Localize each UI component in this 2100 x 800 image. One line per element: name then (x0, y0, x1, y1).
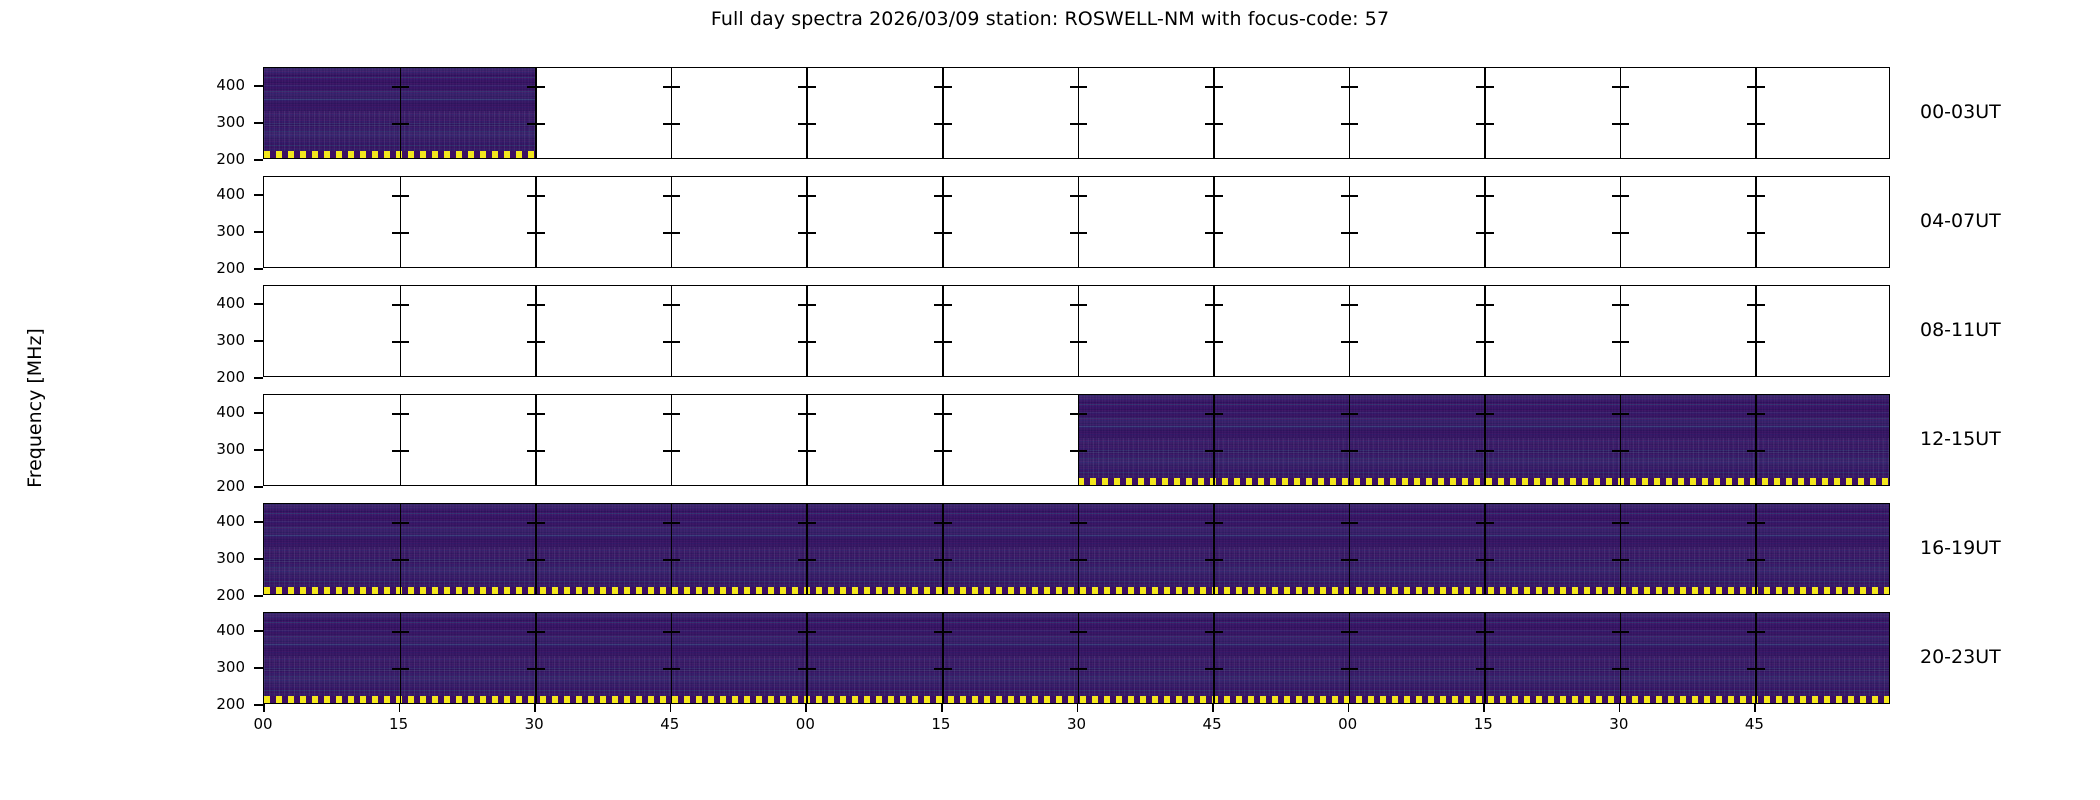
inner-tick (537, 195, 545, 197)
inner-tick (944, 123, 952, 125)
inner-tick (537, 232, 545, 234)
inner-tick (798, 450, 806, 452)
inner-tick (808, 86, 816, 88)
inner-tick (1621, 86, 1629, 88)
inner-tick (537, 304, 545, 306)
x-tick-label: 45 (1192, 715, 1232, 733)
inner-tick (1486, 522, 1494, 524)
inner-tick (1747, 86, 1755, 88)
inner-tick (1612, 413, 1620, 415)
inner-tick (392, 341, 400, 343)
inner-tick (401, 232, 409, 234)
inner-tick (1070, 86, 1078, 88)
inner-tick (934, 559, 942, 561)
inner-tick (1747, 413, 1755, 415)
inner-tick (527, 631, 535, 633)
page-title: Full day spectra 2026/03/09 station: ROS… (0, 8, 2100, 30)
inner-tick (1079, 341, 1087, 343)
inner-tick (798, 195, 806, 197)
x-tick-mark (1754, 704, 1756, 712)
inner-tick (1341, 86, 1349, 88)
inner-tick (808, 522, 816, 524)
inner-tick (672, 86, 680, 88)
block-separator (671, 68, 673, 158)
inner-tick (1350, 232, 1358, 234)
inner-tick (401, 450, 409, 452)
inner-tick (672, 559, 680, 561)
inner-tick (944, 450, 952, 452)
inner-tick (537, 123, 545, 125)
inner-tick (527, 86, 535, 88)
y-tick-label: 400 (185, 294, 245, 312)
inner-tick (944, 304, 952, 306)
inner-tick (672, 195, 680, 197)
inner-tick (1070, 413, 1078, 415)
inner-tick (944, 413, 952, 415)
block-separator (535, 504, 537, 594)
inner-tick (1747, 450, 1755, 452)
inner-tick (392, 559, 400, 561)
inner-tick (808, 450, 816, 452)
block-separator (942, 286, 944, 376)
x-tick-label: 00 (1328, 715, 1368, 733)
inner-tick (1476, 341, 1484, 343)
x-tick-mark (670, 704, 672, 712)
inner-tick (1341, 522, 1349, 524)
y-tick-label: 400 (185, 403, 245, 421)
inner-tick (1070, 232, 1078, 234)
inner-tick (1612, 123, 1620, 125)
inner-tick (672, 123, 680, 125)
inner-tick (1215, 450, 1223, 452)
x-tick-label: 15 (921, 715, 961, 733)
inner-tick (798, 559, 806, 561)
y-tick-mark (254, 303, 263, 305)
inner-tick (1341, 341, 1349, 343)
block-separator (1078, 613, 1080, 703)
block-separator (1755, 286, 1757, 376)
inner-tick (1070, 559, 1078, 561)
block-separator (942, 177, 944, 267)
block-separator (535, 395, 537, 485)
inner-tick (1757, 413, 1765, 415)
inner-tick (934, 123, 942, 125)
inner-tick (1757, 304, 1765, 306)
y-axis-label-text: Frequency [MHz] (24, 278, 46, 538)
inner-tick (1612, 341, 1620, 343)
inner-tick (537, 341, 545, 343)
block-separator (1349, 286, 1351, 376)
block-separator (1213, 177, 1215, 267)
inner-tick (1341, 559, 1349, 561)
inner-tick (1476, 631, 1484, 633)
block-separator (1484, 177, 1486, 267)
y-tick-label: 300 (185, 113, 245, 131)
block-separator (400, 504, 402, 594)
inner-tick (1350, 413, 1358, 415)
inner-tick (808, 123, 816, 125)
y-axis-label: Frequency [MHz] (0, 0, 30, 800)
block-separator (806, 395, 808, 485)
inner-tick (527, 450, 535, 452)
inner-tick (1757, 668, 1765, 670)
inner-tick (934, 668, 942, 670)
y-tick-label: 300 (185, 549, 245, 567)
inner-tick (401, 668, 409, 670)
inner-tick (1621, 123, 1629, 125)
inner-tick (1205, 413, 1213, 415)
inner-tick (663, 123, 671, 125)
inner-tick (1476, 450, 1484, 452)
inner-tick (1621, 304, 1629, 306)
inner-tick (1350, 522, 1358, 524)
inner-tick (1070, 522, 1078, 524)
block-separator (1620, 286, 1622, 376)
inner-tick (1612, 522, 1620, 524)
inner-tick (672, 304, 680, 306)
block-separator (1620, 395, 1622, 485)
block-separator (1755, 504, 1757, 594)
inner-tick (808, 559, 816, 561)
inner-tick (944, 559, 952, 561)
block-separator (1484, 68, 1486, 158)
inner-tick (527, 522, 535, 524)
y-tick-label: 300 (185, 658, 245, 676)
inner-tick (527, 413, 535, 415)
inner-tick (1612, 450, 1620, 452)
y-tick-mark (254, 486, 263, 488)
inner-tick (798, 341, 806, 343)
inner-tick (392, 413, 400, 415)
inner-tick (1476, 522, 1484, 524)
inner-tick (1621, 522, 1629, 524)
inner-tick (401, 413, 409, 415)
inner-tick (1757, 123, 1765, 125)
block-separator (535, 177, 537, 267)
inner-tick (1205, 668, 1213, 670)
inner-tick (1215, 413, 1223, 415)
inner-tick (944, 232, 952, 234)
x-tick-mark (263, 704, 265, 712)
inner-tick (1486, 631, 1494, 633)
inner-tick (663, 668, 671, 670)
inner-tick (401, 195, 409, 197)
inner-tick (672, 668, 680, 670)
inner-tick (1612, 86, 1620, 88)
block-separator (1620, 177, 1622, 267)
x-tick-label: 15 (1463, 715, 1503, 733)
inner-tick (401, 522, 409, 524)
inner-tick (401, 341, 409, 343)
block-separator (1484, 286, 1486, 376)
block-separator (806, 504, 808, 594)
inner-tick (934, 304, 942, 306)
inner-tick (1070, 668, 1078, 670)
x-tick-mark (534, 704, 536, 712)
row-time-label: 16-19UT (1920, 537, 2001, 559)
inner-tick (1621, 341, 1629, 343)
inner-tick (1215, 195, 1223, 197)
inner-tick (934, 522, 942, 524)
inner-tick (1205, 195, 1213, 197)
inner-tick (672, 341, 680, 343)
inner-tick (808, 668, 816, 670)
x-tick-mark (1619, 704, 1621, 712)
inner-tick (1350, 559, 1358, 561)
y-tick-label: 300 (185, 222, 245, 240)
inner-tick (1079, 413, 1087, 415)
inner-tick (1350, 450, 1358, 452)
inner-tick (1205, 559, 1213, 561)
inner-tick (1476, 195, 1484, 197)
block-separator (671, 395, 673, 485)
block-separator (806, 177, 808, 267)
inner-tick (1747, 123, 1755, 125)
inner-tick (1476, 304, 1484, 306)
block-separator (1620, 68, 1622, 158)
block-separator (806, 613, 808, 703)
y-tick-label: 200 (185, 695, 245, 713)
x-tick-label: 45 (650, 715, 690, 733)
y-tick-label: 200 (185, 150, 245, 168)
block-separator (1755, 613, 1757, 703)
inner-tick (1341, 450, 1349, 452)
inner-tick (798, 413, 806, 415)
inner-tick (1486, 304, 1494, 306)
inner-tick (1070, 304, 1078, 306)
block-separator (671, 177, 673, 267)
inner-tick (392, 631, 400, 633)
y-tick-label: 200 (185, 586, 245, 604)
block-separator (942, 613, 944, 703)
inner-tick (808, 413, 816, 415)
inner-tick (1079, 668, 1087, 670)
y-tick-label: 300 (185, 440, 245, 458)
inner-tick (663, 304, 671, 306)
inner-tick (1079, 304, 1087, 306)
block-separator (1213, 613, 1215, 703)
block-separator (1213, 395, 1215, 485)
block-separator (535, 286, 537, 376)
inner-tick (392, 123, 400, 125)
inner-tick (1205, 123, 1213, 125)
y-tick-mark (254, 194, 263, 196)
inner-tick (1612, 668, 1620, 670)
inner-tick (1747, 522, 1755, 524)
block-separator (1484, 504, 1486, 594)
inner-tick (1747, 668, 1755, 670)
inner-tick (1079, 195, 1087, 197)
x-tick-mark (941, 704, 943, 712)
inner-tick (1079, 559, 1087, 561)
block-separator (1484, 395, 1486, 485)
inner-tick (808, 631, 816, 633)
inner-tick (1621, 413, 1629, 415)
inner-tick (537, 668, 545, 670)
inner-tick (1079, 522, 1087, 524)
inner-tick (392, 195, 400, 197)
inner-tick (527, 341, 535, 343)
block-separator (1484, 613, 1486, 703)
block-separator (1620, 504, 1622, 594)
spectrogram-row[interactable] (263, 503, 1890, 595)
inner-tick (1070, 123, 1078, 125)
inner-tick (1757, 631, 1765, 633)
inner-tick (1341, 304, 1349, 306)
inner-tick (663, 341, 671, 343)
inner-tick (1341, 195, 1349, 197)
row-time-label: 20-23UT (1920, 646, 2001, 668)
inner-tick (944, 195, 952, 197)
block-separator (1213, 286, 1215, 376)
block-separator (400, 613, 402, 703)
x-tick-label: 00 (243, 715, 283, 733)
inner-tick (1070, 195, 1078, 197)
block-separator (1755, 177, 1757, 267)
inner-tick (1341, 123, 1349, 125)
y-tick-mark (254, 558, 263, 560)
block-separator (1755, 68, 1757, 158)
inner-tick (663, 631, 671, 633)
block-separator (1213, 504, 1215, 594)
inner-tick (1747, 195, 1755, 197)
inner-tick (1215, 559, 1223, 561)
inner-tick (1205, 522, 1213, 524)
inner-tick (934, 195, 942, 197)
figure-canvas: Full day spectra 2026/03/09 station: ROS… (0, 0, 2100, 800)
inner-tick (1621, 668, 1629, 670)
inner-tick (1621, 232, 1629, 234)
inner-tick (1215, 522, 1223, 524)
y-tick-mark (254, 704, 263, 706)
inner-tick (1205, 304, 1213, 306)
inner-tick (401, 304, 409, 306)
y-tick-mark (254, 159, 263, 161)
inner-tick (537, 413, 545, 415)
y-tick-label: 300 (185, 331, 245, 349)
inner-tick (663, 559, 671, 561)
inner-tick (1486, 232, 1494, 234)
block-separator (1755, 395, 1757, 485)
inner-tick (1612, 232, 1620, 234)
inner-tick (798, 123, 806, 125)
inner-tick (944, 341, 952, 343)
inner-tick (808, 341, 816, 343)
inner-tick (944, 668, 952, 670)
spectrogram-row[interactable] (263, 67, 1890, 159)
inner-tick (1621, 559, 1629, 561)
inner-tick (1205, 450, 1213, 452)
block-separator (1349, 395, 1351, 485)
y-tick-label: 400 (185, 621, 245, 639)
inner-tick (663, 450, 671, 452)
x-tick-mark (399, 704, 401, 712)
y-tick-label: 400 (185, 185, 245, 203)
inner-tick (527, 232, 535, 234)
inner-tick (1350, 195, 1358, 197)
inner-tick (798, 304, 806, 306)
y-tick-mark (254, 449, 263, 451)
inner-tick (1079, 631, 1087, 633)
inner-tick (1621, 450, 1629, 452)
x-tick-mark (1348, 704, 1350, 712)
x-tick-label: 30 (1599, 715, 1639, 733)
inner-tick (1486, 559, 1494, 561)
y-tick-mark (254, 595, 263, 597)
y-tick-label: 200 (185, 368, 245, 386)
inner-tick (672, 631, 680, 633)
y-tick-mark (254, 667, 263, 669)
inner-tick (1486, 86, 1494, 88)
x-tick-mark (805, 704, 807, 712)
block-separator (942, 395, 944, 485)
x-tick-label: 15 (379, 715, 419, 733)
x-tick-label: 30 (1057, 715, 1097, 733)
inner-tick (1205, 86, 1213, 88)
inner-tick (1476, 668, 1484, 670)
inner-tick (1079, 86, 1087, 88)
inner-tick (944, 631, 952, 633)
inner-tick (1070, 341, 1078, 343)
block-separator (1349, 177, 1351, 267)
inner-tick (537, 631, 545, 633)
inner-tick (1079, 232, 1087, 234)
inner-tick (1350, 668, 1358, 670)
row-time-label: 08-11UT (1920, 319, 2001, 341)
inner-tick (1350, 123, 1358, 125)
inner-tick (1747, 559, 1755, 561)
block-separator (1349, 613, 1351, 703)
spectrogram-row[interactable] (263, 285, 1890, 377)
inner-tick (527, 668, 535, 670)
spectrogram-row[interactable] (263, 612, 1890, 704)
inner-tick (1205, 631, 1213, 633)
spectrogram-row[interactable] (263, 176, 1890, 268)
inner-tick (672, 413, 680, 415)
inner-tick (1486, 668, 1494, 670)
row-time-label: 00-03UT (1920, 101, 2001, 123)
inner-tick (1757, 86, 1765, 88)
inner-tick (1350, 304, 1358, 306)
inner-tick (1486, 195, 1494, 197)
inner-tick (537, 522, 545, 524)
y-tick-mark (254, 412, 263, 414)
y-tick-mark (254, 85, 263, 87)
inner-tick (401, 631, 409, 633)
inner-tick (1747, 341, 1755, 343)
y-tick-mark (254, 521, 263, 523)
block-separator (942, 504, 944, 594)
row-time-label: 04-07UT (1920, 210, 2001, 232)
y-tick-label: 200 (185, 259, 245, 277)
spectrogram-row[interactable] (263, 394, 1890, 486)
inner-tick (392, 450, 400, 452)
inner-tick (798, 522, 806, 524)
inner-tick (798, 668, 806, 670)
inner-tick (537, 559, 545, 561)
inner-tick (1350, 631, 1358, 633)
inner-tick (1341, 668, 1349, 670)
inner-tick (934, 450, 942, 452)
inner-tick (1612, 559, 1620, 561)
inner-tick (392, 668, 400, 670)
inner-tick (663, 413, 671, 415)
inner-tick (1079, 123, 1087, 125)
inner-tick (663, 195, 671, 197)
inner-tick (672, 232, 680, 234)
inner-tick (934, 341, 942, 343)
x-tick-mark (1212, 704, 1214, 712)
